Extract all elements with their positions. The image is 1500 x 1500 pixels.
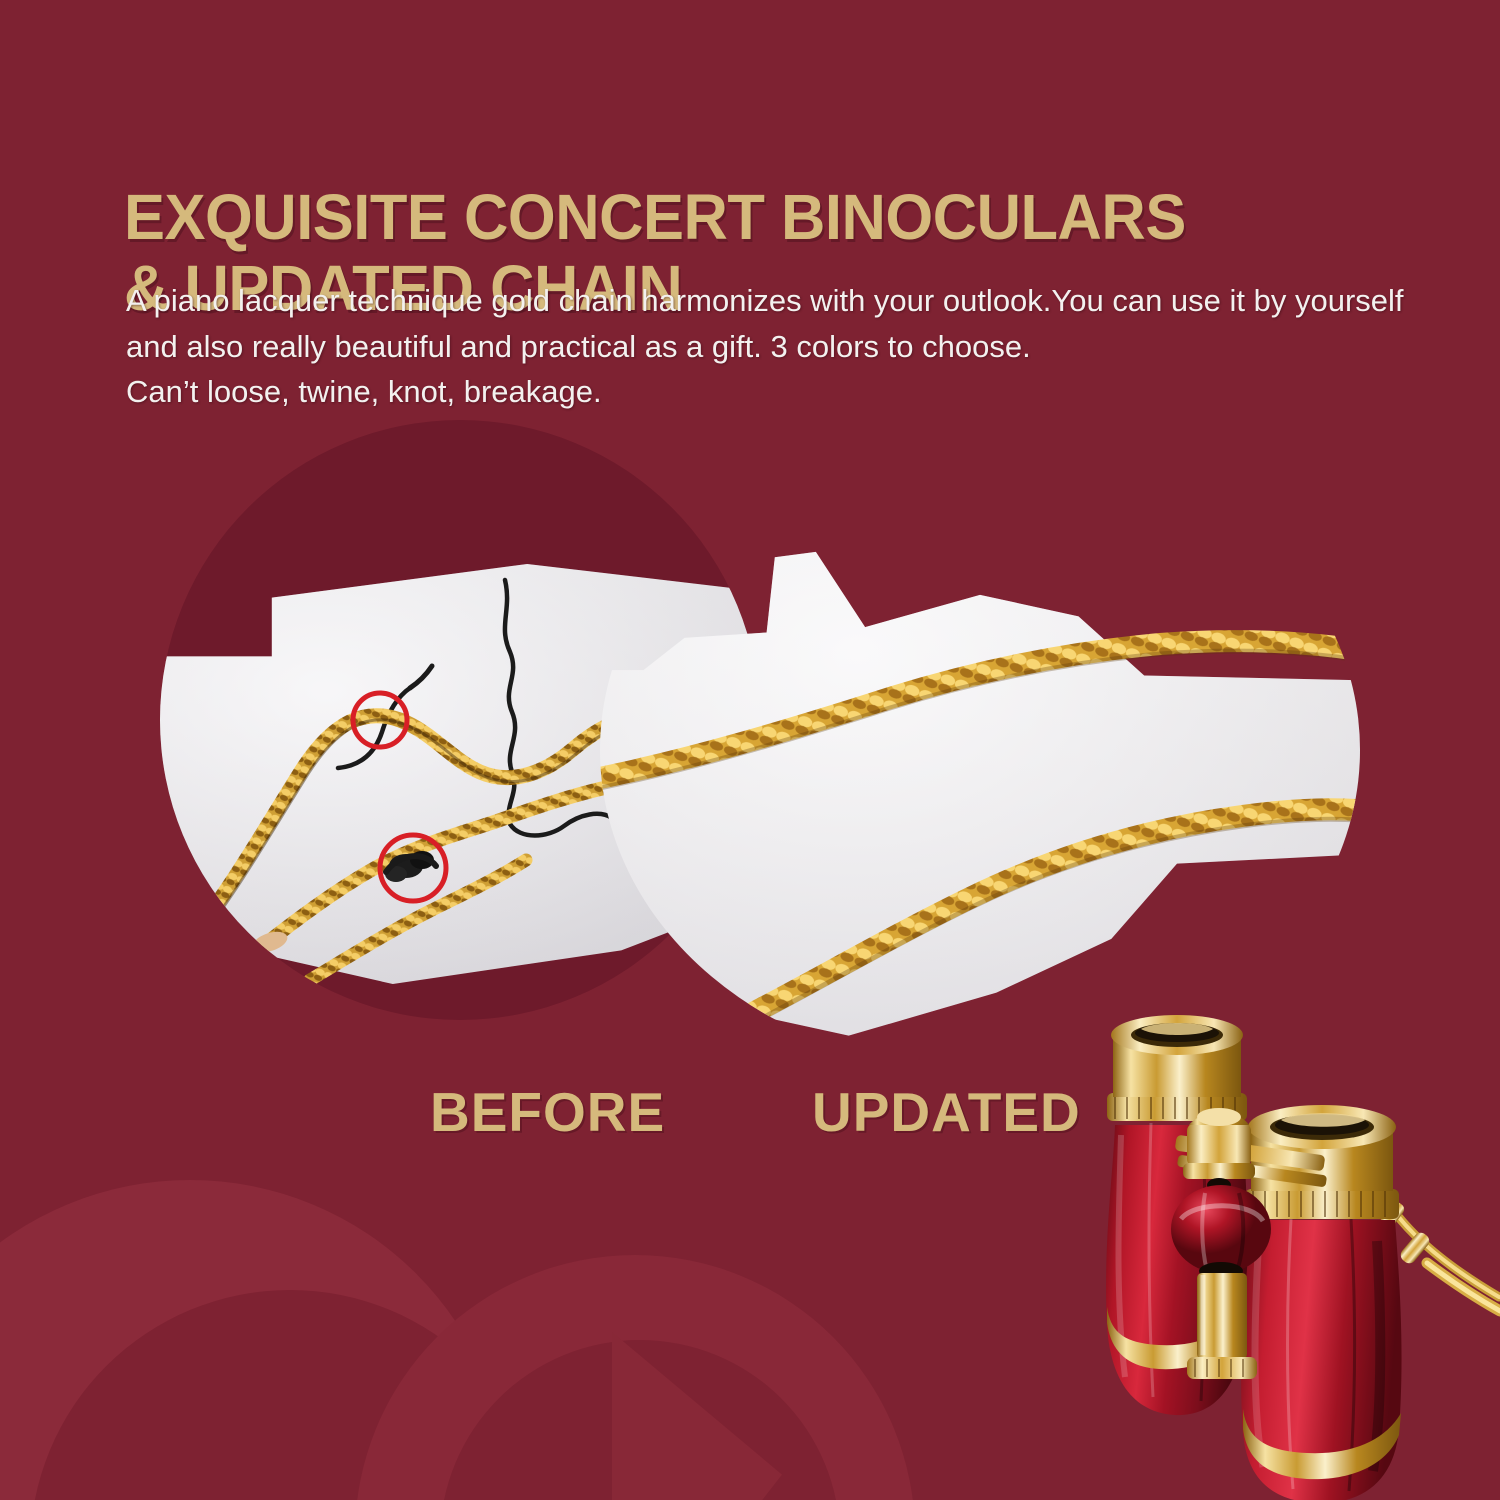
- title-line-1: EXQUISITE CONCERT BINOCULARS: [124, 181, 1186, 253]
- product-infographic: EXQUISITE CONCERT BINOCULARS & UPDATED C…: [0, 0, 1500, 1500]
- updated-photo-scene: [600, 430, 1360, 1070]
- description-paragraph: A piano lacquer technique gold chain har…: [126, 278, 1416, 415]
- before-caption: BEFORE: [430, 1080, 665, 1144]
- background-arc-1: [0, 1180, 510, 1500]
- binoculars-product-image: [1055, 1005, 1500, 1500]
- updated-chain-illustration: [600, 430, 1360, 1070]
- background-wedge: [612, 1332, 782, 1500]
- binoculars-illustration: [1055, 1005, 1500, 1500]
- background-arc-2: [30, 1290, 550, 1500]
- updated-panel: [600, 430, 1360, 1070]
- updated-caption: UPDATED: [812, 1080, 1081, 1144]
